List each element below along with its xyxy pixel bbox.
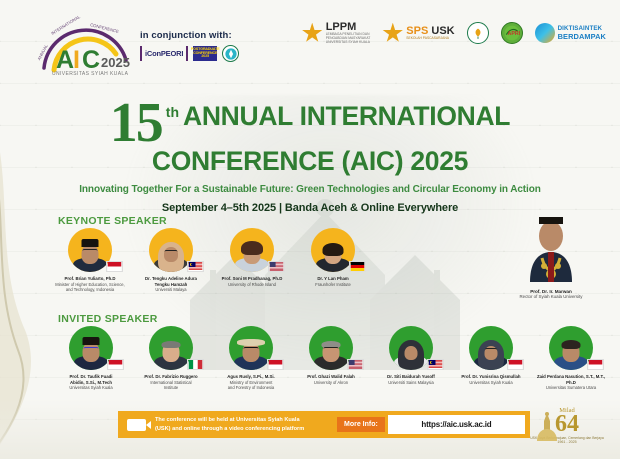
hair-icon: [162, 341, 181, 348]
more-info-label: More Info:: [337, 417, 385, 432]
postgraduate-conference-logo: POSTGRADUATE CONFERENCE 2025: [193, 46, 217, 61]
lppm-subtitle: LEMBAGA PENELITIAN DANPENGABDIAN MASYARA…: [326, 33, 371, 44]
sps-title-2: USK: [431, 25, 454, 37]
invited-section-heading: INVITED SPEAKER: [58, 313, 158, 325]
avatar-head: [83, 342, 100, 362]
iconpeori-logo: iConPEORI: [140, 46, 188, 61]
keynote-speaker-4: Dr. Y Lan Pham Fraunhofer Institute: [295, 228, 371, 292]
poster-header: A I C 2025 UNIVERSITAS SYIAH KUALA ANNUA…: [0, 0, 620, 88]
flag-indonesia-icon: [106, 261, 123, 272]
speaker-affiliation: Universiti Malaya: [133, 287, 209, 292]
avatar: [213, 326, 289, 372]
flag-germany-icon: [349, 261, 366, 272]
usk-star-icon-2: [382, 23, 403, 44]
footer-info-bar: The conference will be held at Universit…: [118, 411, 530, 438]
conjunction-label: in conjunction with:: [140, 30, 245, 41]
partner-logos: LPPM LEMBAGA PENELITIAN DANPENGABDIAN MA…: [302, 22, 606, 44]
invited-speaker-6: Prof. Dr. Yunisrina Qismullah Universita…: [452, 326, 530, 390]
conjunction-logos: iConPEORI POSTGRADUATE CONFERENCE 2025: [140, 45, 245, 62]
flag-malaysia-icon: [187, 261, 204, 272]
conjunction-block: in conjunction with: iConPEORI POSTGRADU…: [140, 30, 245, 62]
avatar: [133, 228, 209, 274]
avatar: [453, 326, 529, 372]
speaker-affiliation: Fraunhofer Institute: [295, 282, 371, 287]
dikti-line2: BERDAMPAK: [558, 33, 606, 41]
speaker-affiliation: Ministry of Environmentand Forestry of I…: [212, 380, 290, 390]
invited-speaker-7: Zaid Perdana Nasution, S.T., M.T., Ph.D …: [532, 326, 610, 390]
pc-line3: 2025: [201, 55, 209, 59]
magnifier-leaf-icon: APRI: [503, 24, 521, 42]
svg-text:2025: 2025: [101, 55, 130, 70]
avatar-head: [82, 244, 99, 264]
flag-indonesia-icon: [507, 359, 524, 370]
peci-icon: [82, 239, 99, 247]
sps-title-1: SPS: [406, 25, 428, 37]
flag-usa-icon: [347, 359, 364, 370]
speaker-affiliation: Minister of Higher Education, Science,an…: [52, 282, 128, 292]
title-main-line1: ANNUAL INTERNATIONAL: [183, 103, 510, 131]
avatar-head: [405, 346, 418, 360]
avatar: [533, 326, 609, 372]
invited-speaker-4: Prof. Ghazi Walid Falah University of Ak…: [292, 326, 370, 390]
rector-block: Prof. Dr. Ir. Marwan Rector of Syiah Kua…: [498, 198, 604, 299]
leaf-icon: [470, 25, 486, 41]
invited-speaker-5: Dr. Siti Baidurah Yusoff Universiti Sain…: [372, 326, 450, 390]
glasses-icon: [324, 347, 339, 351]
avatar: [53, 326, 129, 372]
glasses-icon: [244, 347, 259, 351]
glasses-icon: [485, 348, 497, 352]
keynote-section-heading: KEYNOTE SPEAKER: [58, 215, 167, 227]
avatar: [295, 228, 371, 274]
conference-theme: Innovating Together For a Sustainable Fu…: [0, 184, 620, 195]
title-line-one: 15 th ANNUAL INTERNATIONAL: [0, 98, 620, 150]
speaker-name: Zaid Perdana Nasution, S.T., M.T., Ph.D: [532, 374, 610, 385]
speaker-affiliation: Universiti Sains Malaysia: [372, 380, 450, 385]
avatar: [133, 326, 209, 372]
title-main-line2: CONFERENCE (AIC) 2025: [0, 148, 620, 176]
lppm-usk-logo: LPPM LEMBAGA PENELITIAN DANPENGABDIAN MA…: [302, 22, 371, 44]
keynote-speaker-1: Prof. Brian Yuliarto, Ph.D Minister of H…: [52, 228, 128, 292]
flag-malaysia-icon: [427, 359, 444, 370]
speaker-name: Dr. Tengku Adeline AduraTengku Hamzah: [133, 276, 209, 287]
speaker-affiliation: University of Akron: [292, 380, 370, 385]
flag-usa-icon: [268, 261, 285, 272]
seal-glyph-icon: [224, 47, 238, 61]
avatar: [52, 228, 128, 274]
avatar: [293, 326, 369, 372]
video-camera-icon: [127, 419, 146, 431]
speaker-affiliation: Universitas Syiah Kuala: [452, 380, 530, 385]
invited-speaker-row: Prof. Dr. Taufik FuadiAbidin, S.Si., M.T…: [52, 326, 610, 390]
aic-conference-logo: A I C 2025 UNIVERSITAS SYIAH KUALA ANNUA…: [30, 12, 140, 78]
rector-photo: [520, 198, 582, 282]
svg-text:UNIVERSITAS SYIAH KUALA: UNIVERSITAS SYIAH KUALA: [52, 71, 129, 77]
ahpi-usk-seal-logo: [222, 45, 239, 62]
video-camera-icon-box: [121, 414, 151, 435]
title-block: 15 th ANNUAL INTERNATIONAL CONFERENCE (A…: [0, 98, 620, 214]
peci-icon: [83, 337, 100, 345]
glasses-icon: [83, 249, 98, 253]
sps-usk-logo: SPS USK SEKOLAH PASCASARJANA: [382, 23, 454, 44]
milad-mosque-icon: [534, 411, 560, 445]
glasses-icon: [165, 250, 178, 254]
invited-speaker-1: Prof. Dr. Taufik FuadiAbidin, S.Si., M.T…: [52, 326, 130, 390]
glasses-icon: [84, 347, 99, 351]
footer-note: The conference will be held at Universit…: [151, 416, 327, 432]
hat-icon: [237, 339, 265, 346]
milad-anniversary-logo: Milad 64 USK Jaya Berkemajuan, Cemerlang…: [526, 407, 608, 455]
sps-subtitle: SEKOLAH PASCASARJANA: [406, 37, 454, 41]
speaker-affiliation: University of Rhode Island: [214, 282, 290, 287]
hair-icon: [323, 243, 344, 256]
apri-logo: APRI: [501, 22, 523, 44]
speaker-name: Prof. Dr. Taufik FuadiAbidin, S.Si., M.T…: [52, 374, 130, 385]
hair-icon: [562, 340, 581, 349]
hair-icon: [241, 241, 263, 255]
svg-text:A: A: [56, 46, 74, 74]
keynote-speaker-2: Dr. Tengku Adeline AduraTengku Hamzah Un…: [133, 228, 209, 292]
edition-ordinal: th: [166, 104, 179, 120]
conference-poster: A I C 2025 UNIVERSITAS SYIAH KUALA ANNUA…: [0, 0, 620, 459]
flag-indonesia-icon: [107, 359, 124, 370]
keynote-speaker-row: Prof. Brian Yuliarto, Ph.D Minister of H…: [52, 228, 371, 292]
svg-text:APRI: APRI: [507, 31, 520, 37]
svg-text:C: C: [82, 46, 100, 74]
conference-url[interactable]: https://aic.usk.ac.id: [388, 415, 525, 434]
speaker-affiliation: Universitas Sumatera Utara: [532, 385, 610, 390]
speaker-name: Prof. Dr. Yunisrina Qismullah: [452, 374, 530, 380]
keynote-speaker-3: Prof. Soni M Pradhanag, Ph.D University …: [214, 228, 290, 292]
rector-affiliation: Rector of Syiah Kuala University: [498, 294, 604, 299]
avatar: [214, 228, 290, 274]
avatar: [373, 326, 449, 372]
ahpi-usk-logo: [467, 22, 489, 44]
invited-speaker-3: Agus Rusly, S.Pi., M.Si. Ministry of Env…: [212, 326, 290, 390]
usk-star-icon: [302, 23, 323, 44]
diktisaintek-berdampak-logo: DIKTISAINTEK BERDAMPAK: [535, 23, 606, 43]
svg-text:I: I: [73, 46, 80, 74]
speaker-name: Prof. Soni M Pradhanag, Ph.D: [214, 276, 290, 282]
edition-number: 15: [110, 98, 162, 150]
dikti-swoosh-icon: [535, 23, 555, 43]
flag-indonesia-icon: [587, 359, 604, 370]
speaker-affiliation: International StatisticalInstitute: [132, 380, 210, 390]
speaker-affiliation: Universitas Syiah Kuala: [52, 385, 130, 390]
flag-italy-icon: [187, 359, 204, 370]
invited-speaker-2: Prof. Dr. Fabrizio Ruggero International…: [132, 326, 210, 390]
flag-indonesia-icon: [267, 359, 284, 370]
